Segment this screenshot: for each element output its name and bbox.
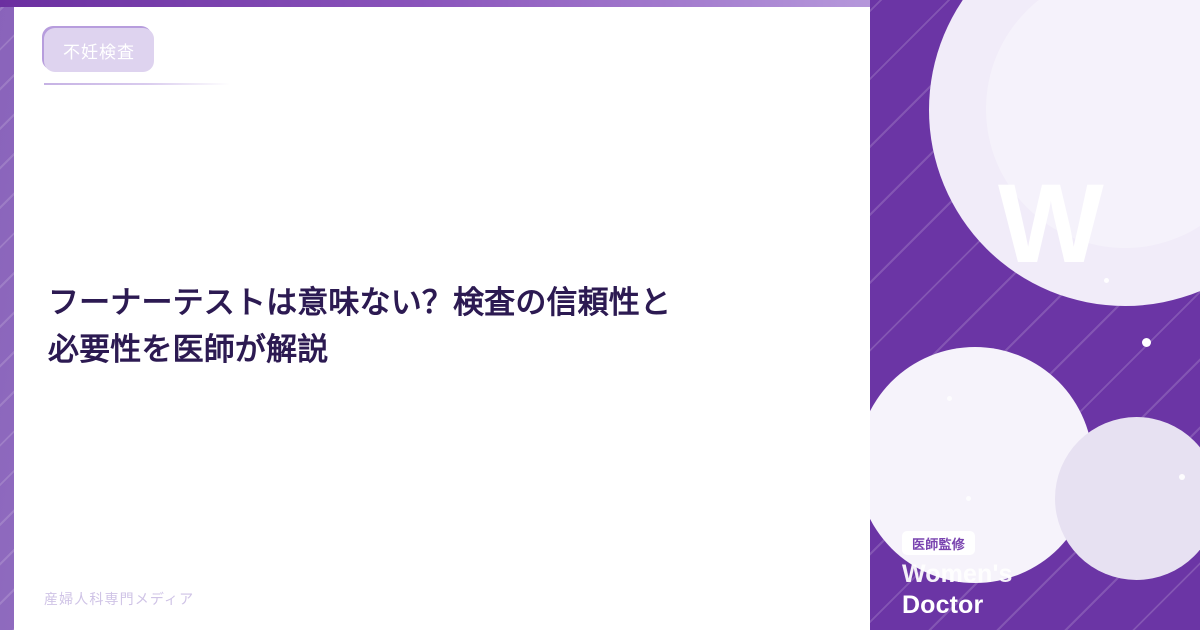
media-tagline: 産婦人科専門メディア: [44, 589, 194, 609]
brand-wordmark-line-1: Women's: [902, 559, 1013, 590]
brand-wordmark: Women's Doctor: [902, 559, 1013, 621]
content-card: 不妊検査 フーナーテストは意味ない？検査の信頼性と 必要性を医師が解説 産婦人科…: [14, 7, 870, 630]
sparkle-dot-icon: [1179, 474, 1185, 480]
og-image-card: 不妊検査 フーナーテストは意味ない？検査の信頼性と 必要性を医師が解説 産婦人科…: [0, 0, 1200, 630]
brand-panel: W 医師監修 Women's Doctor: [870, 0, 1200, 630]
brand-wordmark-line-2: Doctor: [902, 590, 1013, 621]
page-title: フーナーテストは意味ない？検査の信頼性と 必要性を医師が解説: [48, 279, 788, 373]
sparkle-dot-icon: [947, 396, 952, 401]
sparkle-dot-icon: [966, 496, 971, 501]
category-badge-underline: [44, 83, 230, 85]
sparkle-dot-icon: [1104, 278, 1109, 283]
page-title-line-1: フーナーテストは意味ない？検査の信頼性と: [48, 279, 788, 326]
supervision-badge: 医師監修: [902, 531, 975, 555]
brand-monogram-icon: W: [998, 168, 1101, 280]
category-badge[interactable]: 不妊検査: [44, 28, 154, 72]
page-title-line-2: 必要性を医師が解説: [48, 326, 788, 373]
category-badge-wrapper: 不妊検査: [44, 28, 154, 72]
sparkle-dot-icon: [1142, 338, 1151, 347]
